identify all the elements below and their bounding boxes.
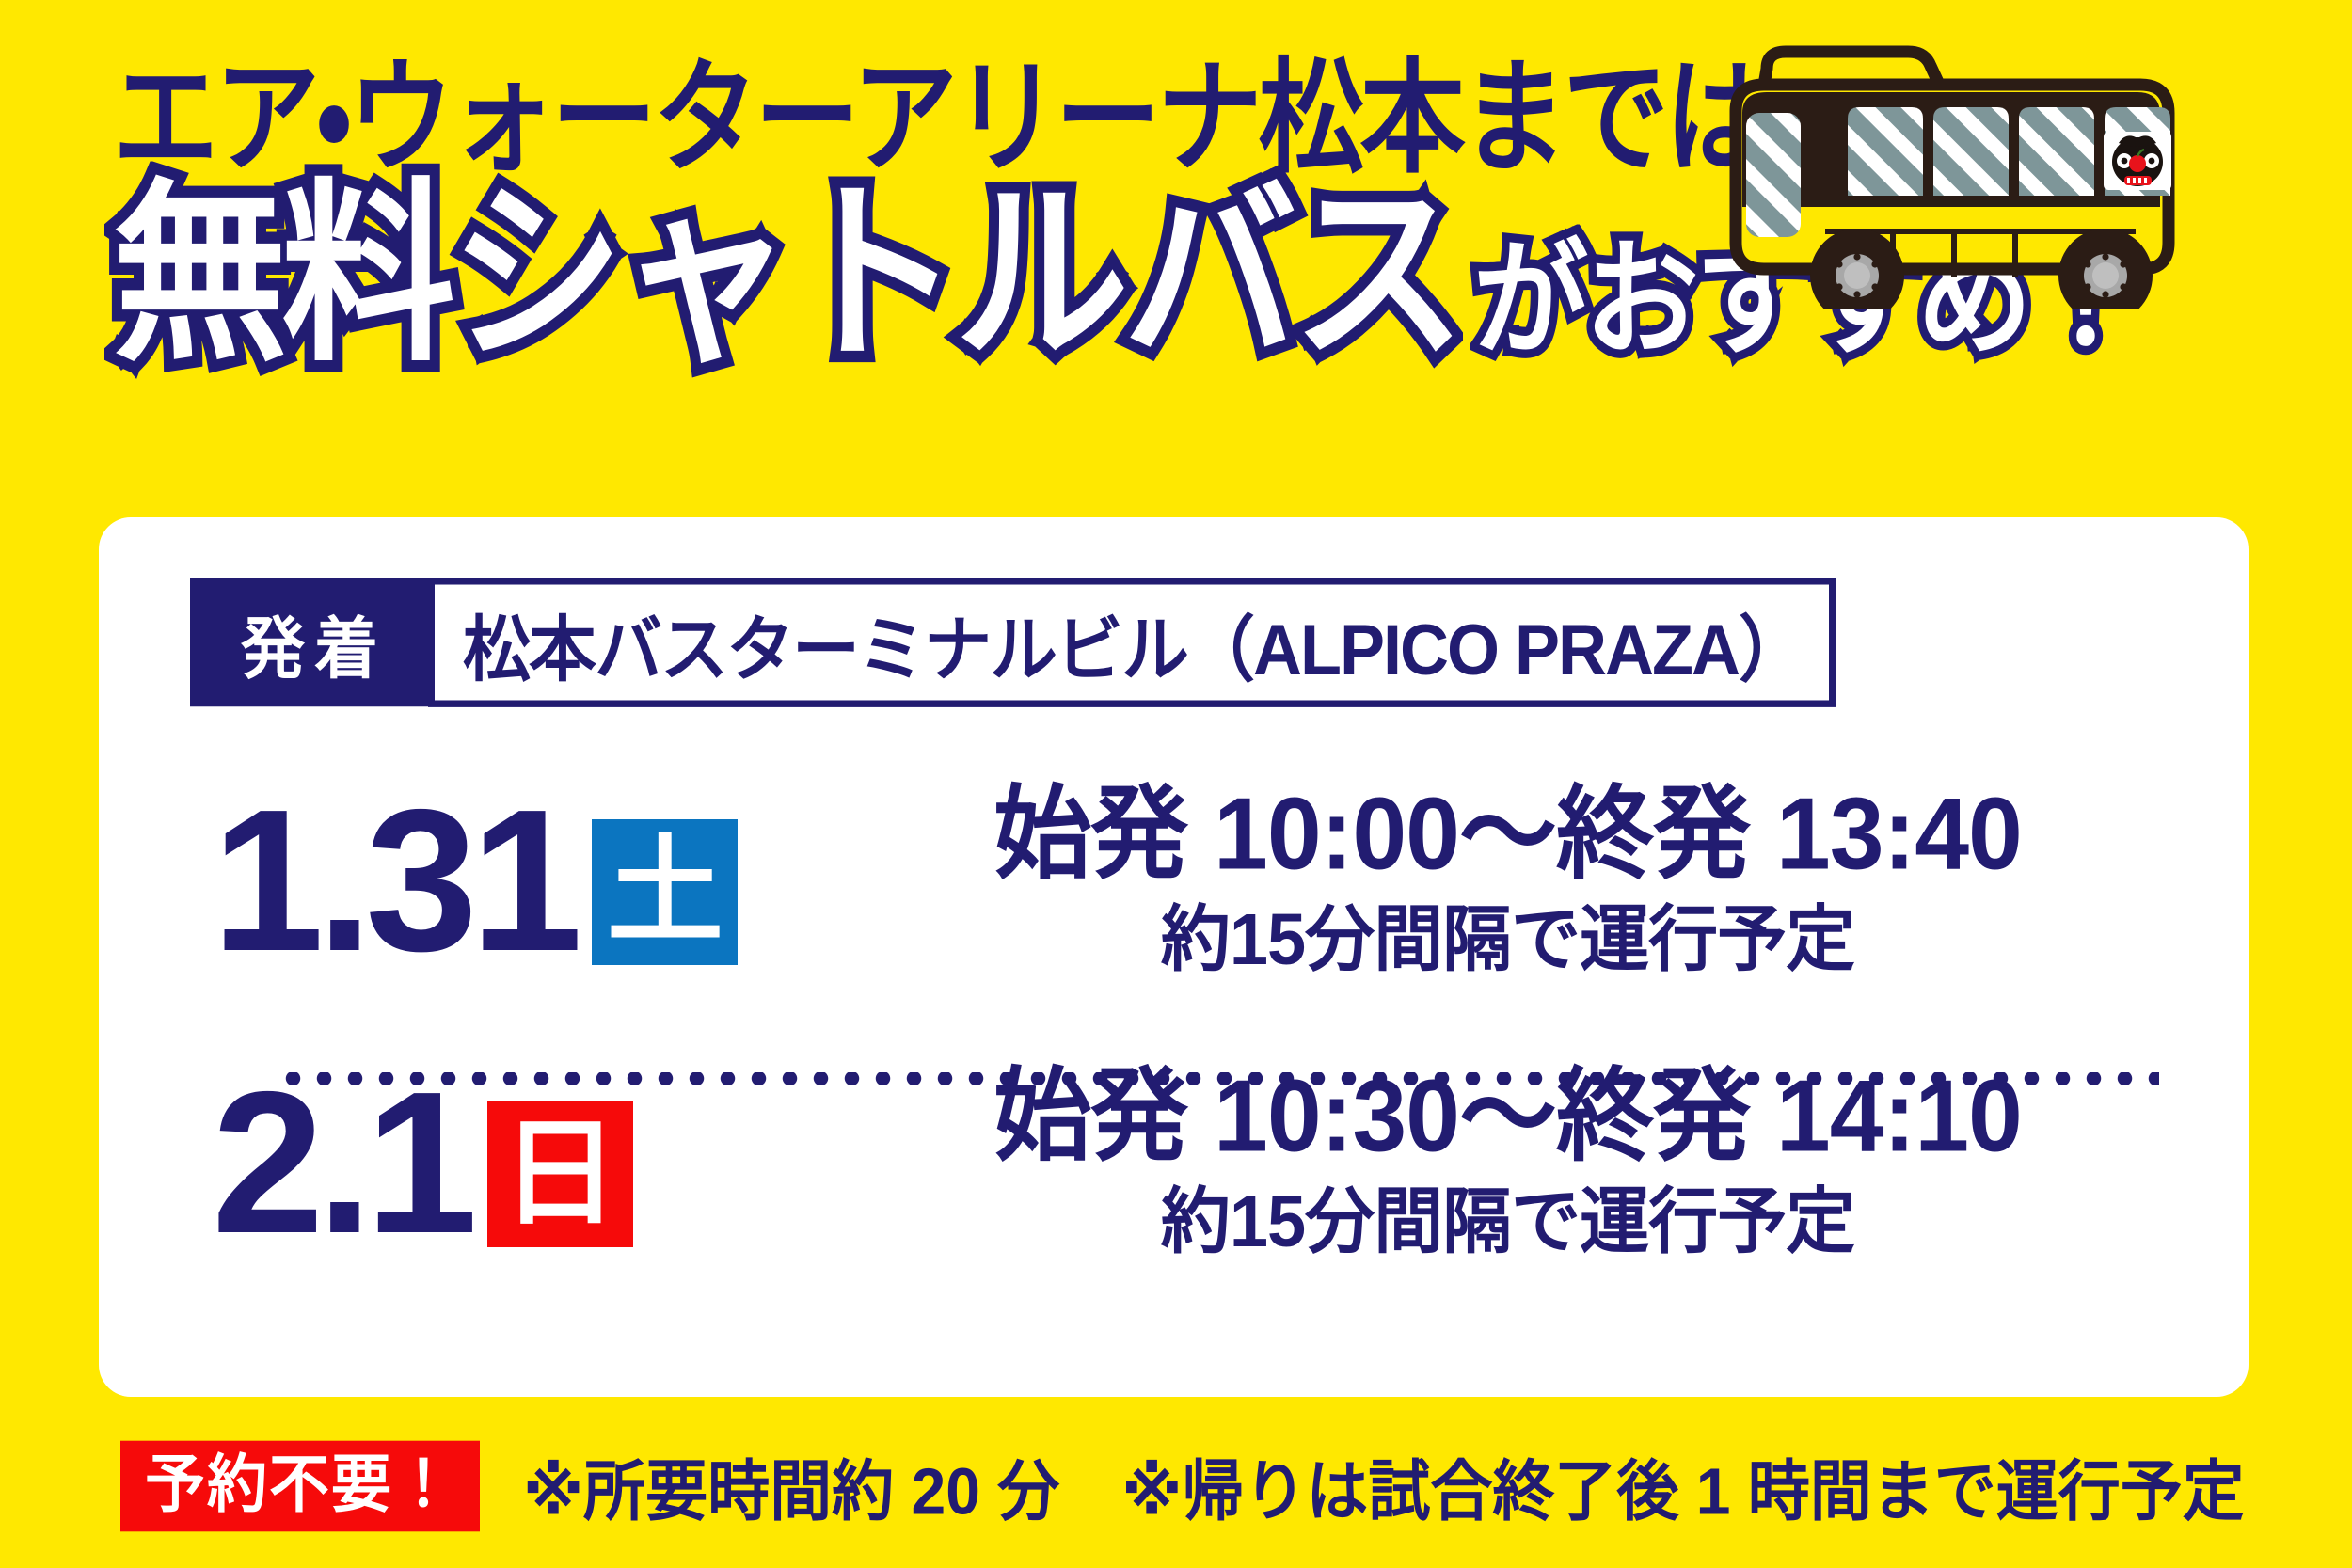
time-range: 始発 10:00〜終発 13:40 [833,775,2183,895]
schedule-card: 発着 松本バスターミナルビル（ALPICO PRAZA） 1.31 土 始発 1… [99,517,2249,1397]
day-badge-saturday: 土 [592,819,738,965]
footer-note-text: ※所要時間約 20 分 ※帰りは試合終了後 1 時間まで運行予定 [523,1438,2245,1534]
date-number: 2.1 [212,1061,470,1263]
schedule-row: 1.31 土 始発 10:00〜終発 13:40 約15分間隔で運行予定 [99,738,2249,1021]
headline-line-1: エア・ウォーターアリーナ松本までは [113,56,1731,181]
headline-line-2: 無料シャトルバスがおすすめ！ [113,199,1731,373]
time-interval-note: 約15分間隔で運行予定 [833,1179,2183,1265]
time-block: 始発 10:30〜終発 14:10 約15分間隔で運行予定 [833,1059,2249,1264]
apple-mascot-icon [2104,132,2171,190]
departure-location: 松本バスターミナルビル（ALPICO PRAZA） [428,578,1836,707]
time-block: 始発 10:00〜終発 13:40 約15分間隔で運行予定 [833,777,2249,982]
headline-emphasis: 無料シャトルバス [113,179,1460,373]
no-reservation-badge: 予約不要！ [120,1441,480,1532]
date-number: 1.31 [212,779,575,981]
day-badge-sunday: 日 [487,1101,633,1247]
schedule-list: 1.31 土 始発 10:00〜終発 13:40 約15分間隔で運行予定 2.1… [99,738,2249,1303]
date-block: 1.31 土 [212,779,833,981]
bus-illustration [1684,26,2211,309]
footer-note-row: 予約不要！ ※所要時間約 20 分 ※帰りは試合終了後 1 時間まで運行予定 [0,1430,2352,1543]
row-divider [278,1072,2159,1085]
departure-label: 発着 [190,578,429,707]
headline-block: エア・ウォーターアリーナ松本までは 無料シャトルバスがおすすめ！ [0,0,1731,373]
date-block: 2.1 日 [212,1061,833,1263]
shuttle-bus-poster: エア・ウォーターアリーナ松本までは 無料シャトルバスがおすすめ！ [0,0,2352,1568]
time-interval-note: 約15分間隔で運行予定 [833,896,2183,983]
departure-row: 発着 松本バスターミナルビル（ALPICO PRAZA） [190,581,1836,704]
schedule-row: 2.1 日 始発 10:30〜終発 14:10 約15分間隔で運行予定 [99,1021,2249,1303]
